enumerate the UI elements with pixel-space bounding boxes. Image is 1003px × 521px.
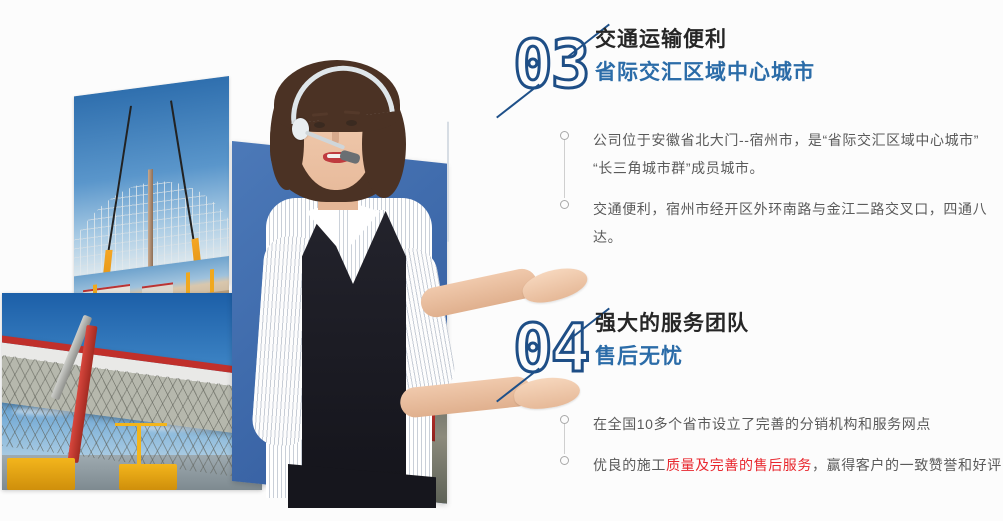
bullet-text-highlight: 质量及完善的售后服务 bbox=[666, 457, 812, 473]
bullet-text-suffix: ，赢得客户的一致赞誉和好评 bbox=[812, 457, 1002, 473]
bullet-text-rich: 优良的施工质量及完善的售后服务，赢得客户的一致赞誉和好评 bbox=[593, 451, 1003, 479]
list-item: 优良的施工质量及完善的售后服务，赢得客户的一致赞誉和好评 bbox=[553, 451, 1003, 479]
feature-section-03: 03 交通运输便利 省际交汇区域中心城市 公司位于安徽省北大门--宿州市，是“省… bbox=[505, 24, 1003, 264]
section-04-number-badge: 04 bbox=[513, 312, 599, 390]
list-item: 交通便利，宿州市经开区外环南路与金江二路交叉口，四通八达。 bbox=[553, 195, 1003, 251]
bullet-text-prefix: 优良的施工 bbox=[593, 457, 666, 473]
section-03-header: 03 交通运输便利 省际交汇区域中心城市 bbox=[505, 24, 1003, 112]
section-number: 03 bbox=[513, 28, 588, 102]
bullet-text: 交通便利，宿州市经开区外环南路与金江二路交叉口，四通八达。 bbox=[593, 195, 1003, 251]
yellow-crane-truck bbox=[7, 458, 75, 490]
section-03-titles: 交通运输便利 省际交汇区域中心城市 bbox=[595, 24, 815, 90]
section-03-number-badge: 03 bbox=[513, 28, 599, 106]
section-04-bullet-list: 在全国10多个省市设立了完善的分销机构和服务网点 优良的施工质量及完善的售后服务… bbox=[553, 396, 1003, 479]
yellow-crane-truck bbox=[119, 464, 177, 490]
image-collage bbox=[0, 0, 500, 521]
list-item: 公司位于安徽省北大门--宿州市，是“省际交汇区域中心城市” “长三角城市群”成员… bbox=[553, 126, 1003, 182]
section-title-sub: 售后无忧 bbox=[595, 340, 749, 374]
bullet-text: 在全国10多个省市设立了完善的分销机构和服务网点 bbox=[593, 410, 1003, 438]
headset-service-woman-photo bbox=[222, 60, 522, 508]
section-title-sub: 省际交汇区域中心城市 bbox=[595, 56, 815, 90]
section-number: 04 bbox=[513, 312, 588, 386]
list-item: 在全国10多个省市设立了完善的分销机构和服务网点 bbox=[553, 410, 1003, 438]
section-03-bullet-list: 公司位于安徽省北大门--宿州市，是“省际交汇区域中心城市” “长三角城市群”成员… bbox=[553, 112, 1003, 251]
bullet-connector-line bbox=[564, 136, 565, 198]
bullet-circle-icon bbox=[560, 200, 569, 209]
bullet-circle-icon bbox=[560, 456, 569, 465]
eye-left bbox=[314, 122, 325, 128]
feature-section-04: 04 强大的服务团队 售后无忧 在全国10多个省市设立了完善的分销机构和服务网点… bbox=[505, 308, 1003, 492]
section-04-titles: 强大的服务团队 售后无忧 bbox=[595, 308, 749, 374]
bullet-circle-icon bbox=[560, 415, 569, 424]
section-title-main: 强大的服务团队 bbox=[595, 308, 749, 340]
bullet-circle-icon bbox=[560, 131, 569, 140]
section-title-main: 交通运输便利 bbox=[595, 24, 815, 56]
eye-right bbox=[346, 120, 357, 126]
bullet-connector-line bbox=[564, 420, 565, 454]
promo-banner: 03 交通运输便利 省际交汇区域中心城市 公司位于安徽省北大门--宿州市，是“省… bbox=[0, 0, 1003, 521]
headset-earpad-icon bbox=[292, 118, 309, 140]
section-04-header: 04 强大的服务团队 售后无忧 bbox=[505, 308, 1003, 396]
open-hand-upper bbox=[519, 261, 591, 308]
bullet-text: 公司位于安徽省北大门--宿州市，是“省际交汇区域中心城市” “长三角城市群”成员… bbox=[593, 126, 1003, 182]
tower-crane bbox=[137, 423, 141, 466]
